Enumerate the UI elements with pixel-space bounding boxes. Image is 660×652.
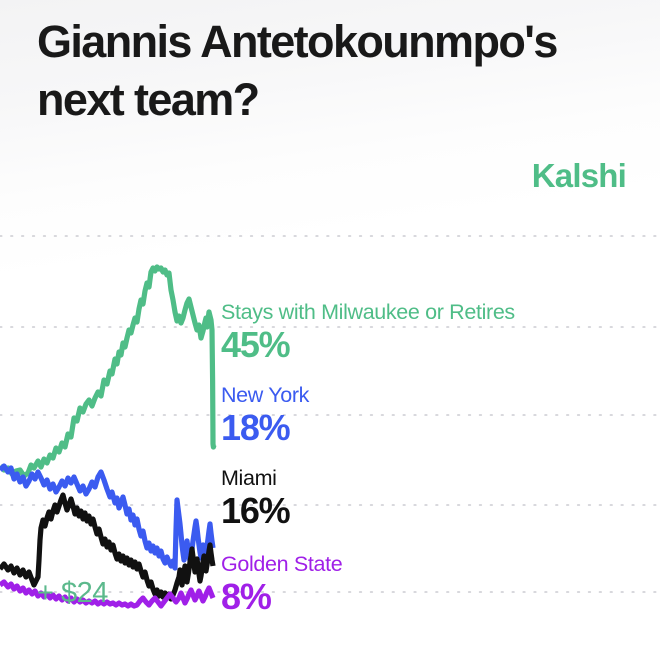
legend-percentage: 45%	[221, 325, 515, 364]
legend-percentage: 16%	[221, 491, 289, 530]
page-title: Giannis Antetokounmpo's next team?	[37, 13, 637, 129]
legend-label: Golden State	[221, 552, 342, 576]
legend-item-new-york[interactable]: New York18%	[221, 383, 309, 447]
chart-legend: Stays with Milwaukee or Retires45%New Yo…	[221, 218, 660, 652]
legend-item-golden-state[interactable]: Golden State8%	[221, 552, 342, 616]
kalshi-brand-logo: Kalshi	[532, 157, 626, 195]
legend-label: Miami	[221, 466, 289, 490]
pnl-annotation: + $24	[37, 577, 108, 610]
legend-label: Stays with Milwaukee or Retires	[221, 300, 515, 324]
legend-percentage: 18%	[221, 408, 309, 447]
legend-item-stays-with-milwaukee-or-retires[interactable]: Stays with Milwaukee or Retires45%	[221, 300, 515, 364]
series-line-new-york	[0, 466, 213, 568]
legend-item-miami[interactable]: Miami16%	[221, 466, 289, 530]
series-line-stays-with-milwaukee-or-retires	[0, 267, 214, 476]
legend-percentage: 8%	[221, 577, 342, 616]
chart-series-group	[0, 267, 214, 606]
page-root: Giannis Antetokounmpo's next team? Kalsh…	[0, 0, 660, 652]
legend-label: New York	[221, 383, 309, 407]
